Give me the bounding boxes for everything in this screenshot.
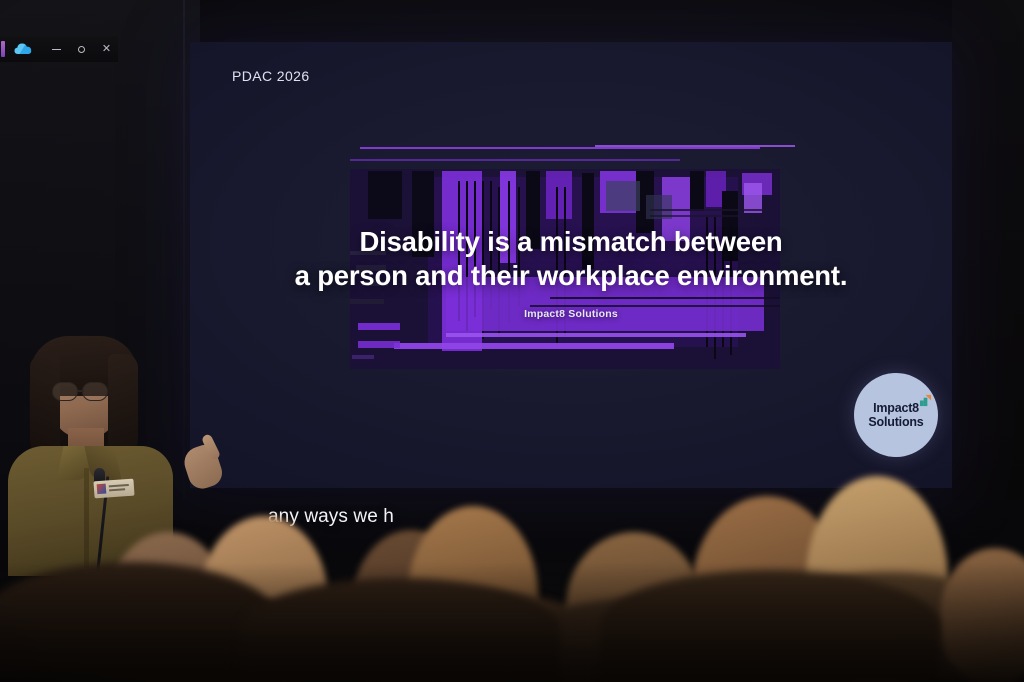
screenshot-stage: ✕ PDAC 2026 [0, 0, 1024, 682]
speaker-glasses-right [82, 382, 108, 401]
audience-head [940, 548, 1024, 682]
slide-kicker: PDAC 2026 [232, 68, 310, 84]
audience-shoulders [0, 562, 280, 682]
slide-quote: Disability is a mismatch between a perso… [190, 225, 952, 320]
arrow-mark-icon [919, 394, 932, 407]
audience-shoulders [600, 570, 940, 682]
wall-panel-right [952, 0, 1024, 500]
logo-line-2: Solutions [868, 415, 923, 429]
audience-shoulders [240, 578, 560, 682]
speaker-glasses-left [52, 382, 78, 401]
audience-silhouettes [0, 442, 1024, 682]
logo-line-1: Impact8 [873, 401, 919, 415]
window-close-button[interactable]: ✕ [95, 38, 118, 60]
window-titlebar: ✕ [0, 36, 118, 62]
speaker-hair-right [108, 354, 138, 456]
minimize-icon [52, 49, 61, 50]
presentation-slide: PDAC 2026 [190, 42, 952, 488]
quote-line-1: Disability is a mismatch between [226, 225, 916, 259]
titlebar-accent-sliver [1, 41, 5, 57]
restore-icon [78, 46, 85, 53]
window-restore-button[interactable] [70, 38, 93, 60]
quote-line-2: a person and their workplace environment… [226, 259, 916, 293]
quote-attribution: Impact8 Solutions [226, 308, 916, 320]
speaker-glasses-bridge [78, 390, 84, 392]
window-minimize-button[interactable] [45, 38, 68, 60]
cloud-icon[interactable] [13, 39, 35, 59]
